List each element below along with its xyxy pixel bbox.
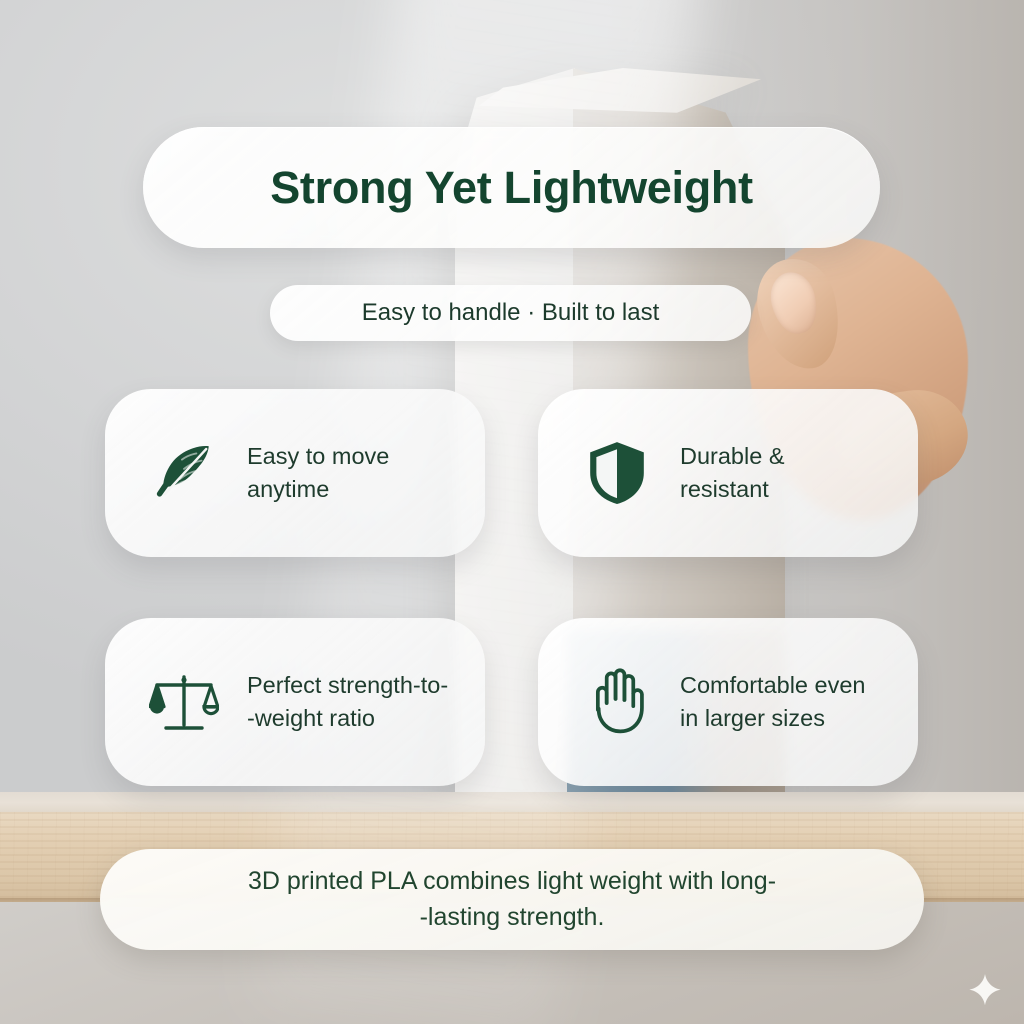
feature-card-comfortable[interactable]: Comfortable even in larger sizes: [538, 618, 918, 786]
caption-pill: 3D printed PLA combines light weight wit…: [100, 849, 924, 950]
feature-line-1: Perfect strength-to-: [247, 672, 448, 698]
feature-card-label: Comfortable even in larger sizes: [680, 669, 866, 736]
feature-card-label: Durable & resistant: [680, 440, 785, 507]
feature-line-1: Comfortable even: [680, 672, 866, 698]
page-subtitle: Easy to handle · Built to last: [362, 299, 660, 327]
page-title: Strong Yet Lightweight: [270, 162, 753, 214]
feature-card-easy-to-move[interactable]: Easy to move anytime: [105, 389, 485, 557]
feature-line-2: in larger sizes: [680, 705, 825, 731]
feature-line-2: -weight ratio: [247, 705, 375, 731]
feature-line-1: Easy to move: [247, 443, 389, 469]
caption-line-1: 3D printed PLA combines light weight wit…: [248, 867, 776, 895]
caption-line-2: -lasting strength.: [420, 903, 605, 931]
feature-card-label: Easy to move anytime: [247, 440, 389, 507]
sparkle-icon: [968, 973, 1002, 1007]
feature-line-1: Durable &: [680, 443, 785, 469]
infographic-stage: Strong Yet Lightweight Easy to handle · …: [0, 0, 1024, 1024]
feature-card-label: Perfect strength-to- -weight ratio: [247, 669, 448, 736]
feature-line-2: resistant: [680, 476, 769, 502]
feather-icon: [147, 436, 221, 510]
caption-text: 3D printed PLA combines light weight wit…: [208, 864, 816, 935]
balance-scale-icon: [147, 665, 221, 739]
feature-line-2: anytime: [247, 476, 329, 502]
subtitle-pill: Easy to handle · Built to last: [270, 285, 751, 341]
shield-icon: [580, 436, 654, 510]
feature-card-strength-ratio[interactable]: Perfect strength-to- -weight ratio: [105, 618, 485, 786]
feature-card-durable[interactable]: Durable & resistant: [538, 389, 918, 557]
feature-card-grid: Easy to move anytime Durable & resistant: [105, 389, 918, 786]
title-pill: Strong Yet Lightweight: [143, 127, 880, 248]
open-hand-icon: [580, 665, 654, 739]
